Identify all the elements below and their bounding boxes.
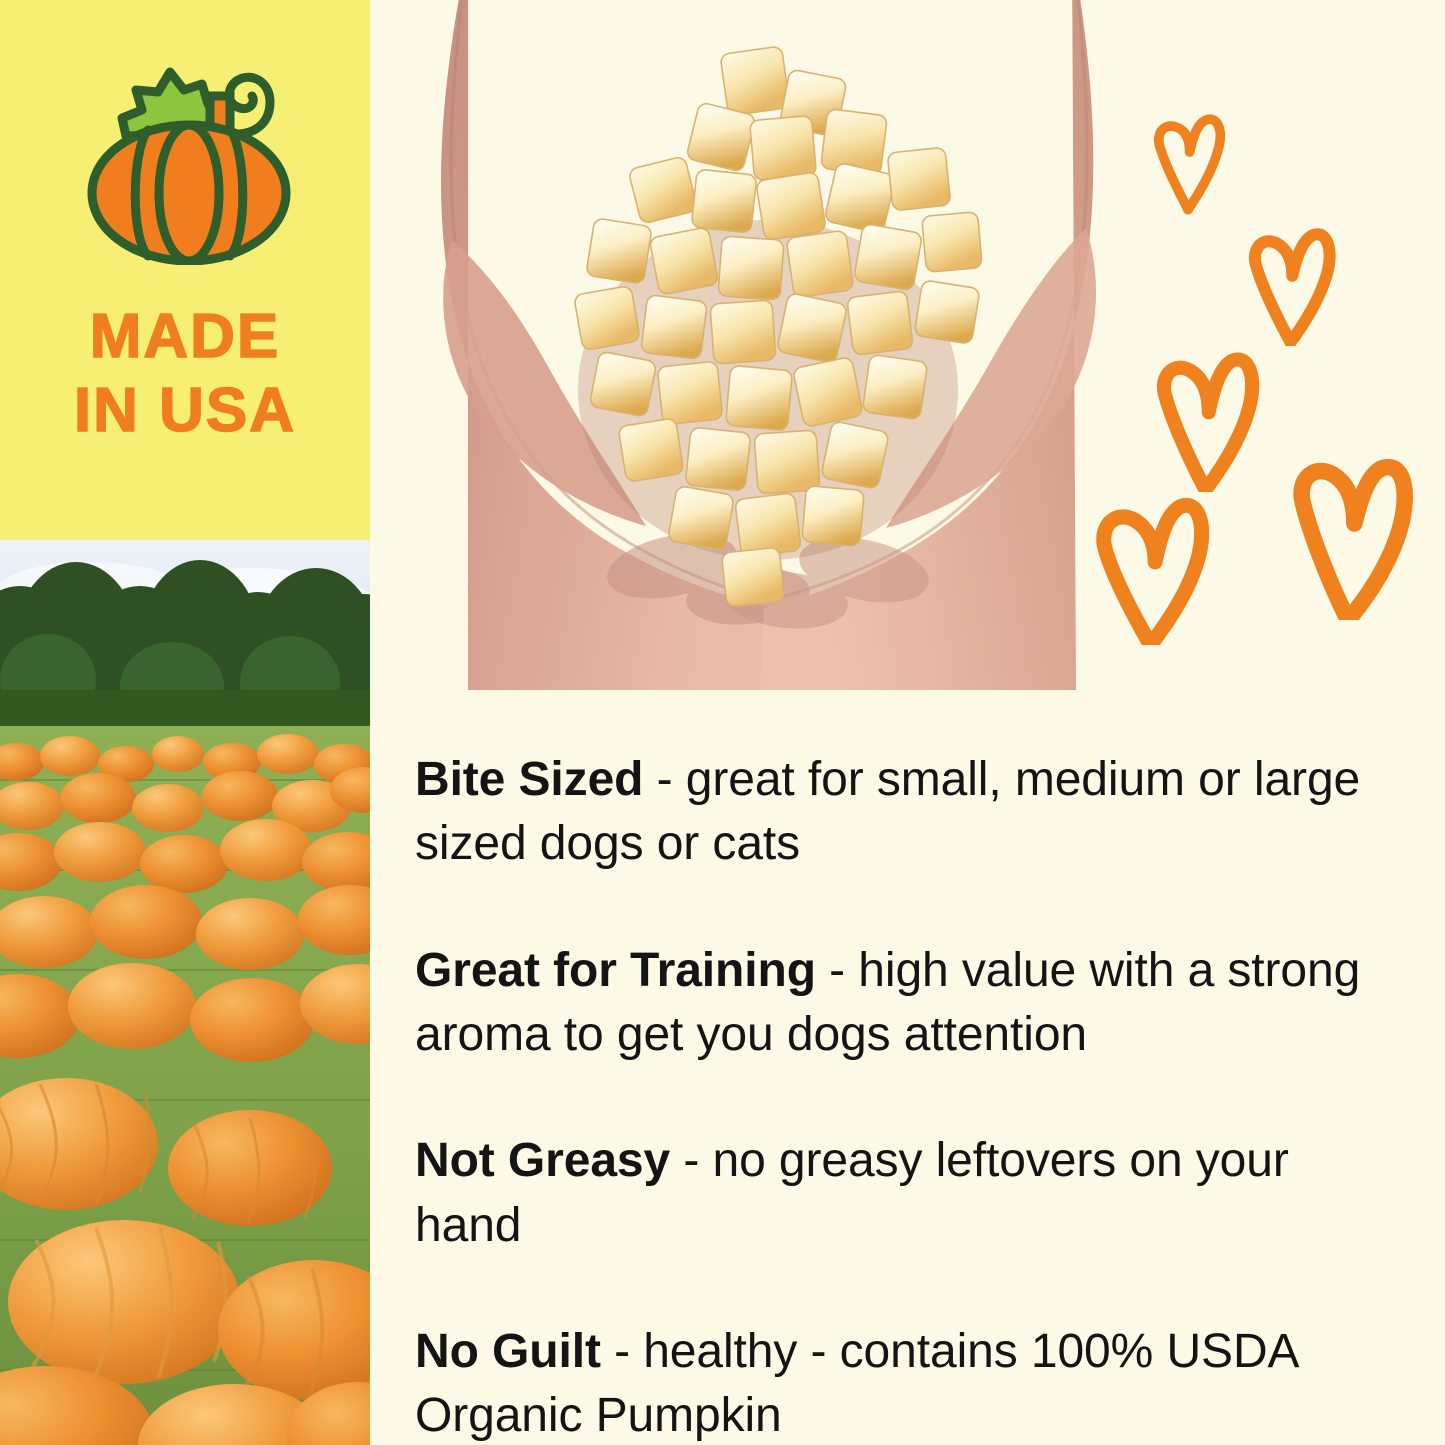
pumpkin-patch-photo <box>0 540 370 1445</box>
made-in-usa-line-1: MADE <box>0 300 370 374</box>
feature-item-not-greasy: Not Greasy - no greasy leftovers on your… <box>415 1129 1390 1258</box>
heart-decoration-3 <box>1148 352 1263 492</box>
feature-title: No Guilt <box>415 1325 601 1378</box>
pumpkin-icon <box>84 50 294 265</box>
feature-separator: - <box>816 944 858 997</box>
heart-decoration-4 <box>1088 495 1213 645</box>
heart-decoration-5 <box>1283 455 1413 620</box>
feature-title: Bite Sized <box>415 753 643 806</box>
feature-separator: - <box>670 1134 712 1187</box>
feature-title: Great for Training <box>415 944 816 997</box>
heart-decoration-1 <box>1148 110 1228 215</box>
hands-holding-treats-photo <box>372 0 1132 690</box>
product-feature-infographic: MADE IN USA <box>0 0 1445 1445</box>
feature-separator: - <box>643 753 685 806</box>
heart-decoration-2 <box>1243 226 1338 346</box>
feature-separator: - <box>601 1325 643 1378</box>
made-in-usa-text: MADE IN USA <box>0 300 370 448</box>
feature-item-bite-sized: Bite Sized - great for small, medium or … <box>415 748 1390 877</box>
feature-list: Bite Sized - great for small, medium or … <box>415 700 1390 1445</box>
feature-item-great-for-training: Great for Training - high value with a s… <box>415 939 1390 1068</box>
feature-item-no-guilt: No Guilt - healthy - contains 100% USDA … <box>415 1320 1390 1445</box>
made-in-usa-line-2: IN USA <box>0 374 370 448</box>
feature-title: Not Greasy <box>415 1134 670 1187</box>
left-column: MADE IN USA <box>0 0 370 1445</box>
